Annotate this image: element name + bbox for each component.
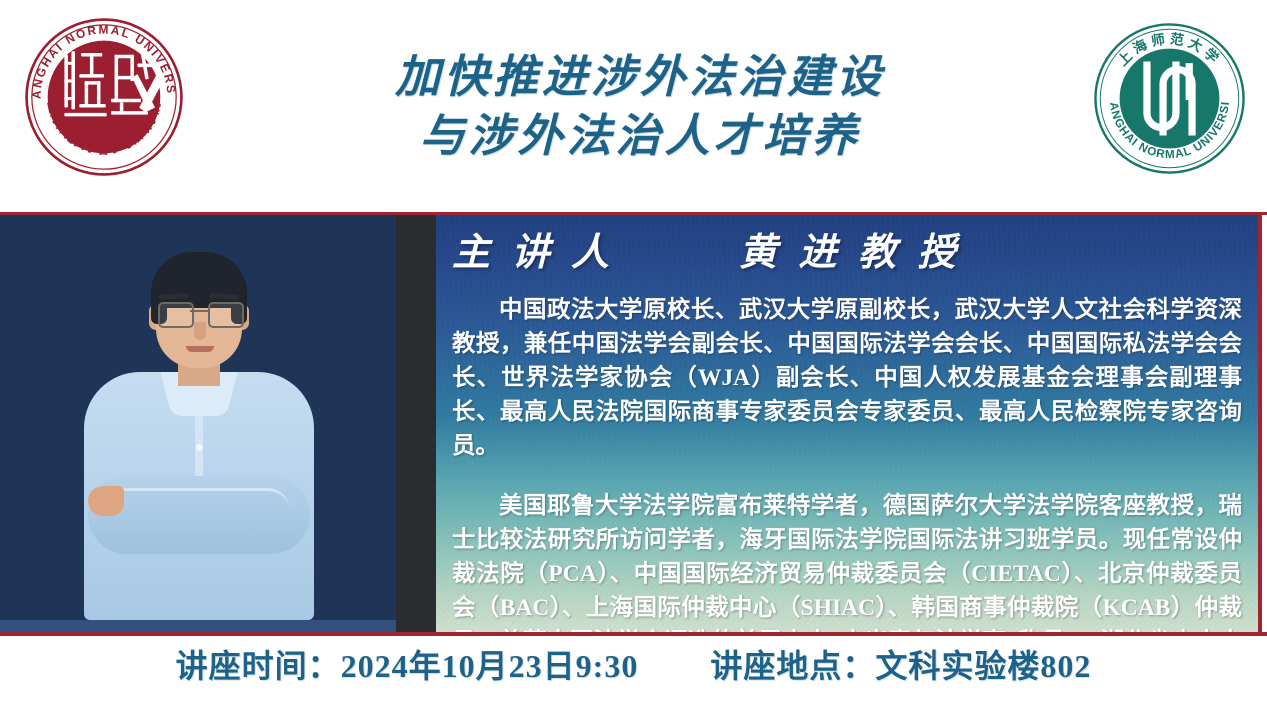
portrait-base-bar	[0, 620, 396, 632]
eyeglass-lens-left	[158, 302, 194, 328]
speaker-heading: 主 讲 人 黄 进 教 授	[452, 227, 1242, 279]
nose-shape	[194, 322, 206, 340]
portrait-dark-divider	[396, 215, 436, 632]
shirt-button	[196, 444, 203, 451]
poster-footer: 讲座时间：2024年10月23日9:30 讲座地点：文科实验楼802	[0, 636, 1267, 713]
poster-title-line-1: 加快推进涉外法治建设	[200, 48, 1080, 107]
lecture-location: 讲座地点：文科实验楼802	[710, 644, 1091, 688]
speaker-bio-paragraph-2: 美国耶鲁大学法学院富布莱特学者，德国萨尔大学法学院客座教授，瑞士比较法研究所访问…	[452, 489, 1242, 632]
right-divider-rule	[1258, 212, 1262, 636]
lecture-poster: SHANGHAI NORMAL UNIVERSITY 上海师范大学哲学与法政学院	[0, 0, 1267, 713]
lecture-time: 讲座时间：2024年10月23日9:30	[176, 644, 639, 688]
arm-fold-highlight	[104, 488, 290, 533]
speaker-portrait-photo	[0, 215, 396, 632]
speaker-figure	[74, 248, 324, 620]
eyeglass-bridge	[190, 310, 208, 312]
left-university-seal-icon: SHANGHAI NORMAL UNIVERSITY 上海师范大学哲学与法政学院	[16, 9, 192, 185]
poster-title: 加快推进涉外法治建设 与涉外法治人才培养	[200, 48, 1080, 166]
speaker-bio-paragraph-1: 中国政法大学原校长、武汉大学原副校长，武汉大学人文社会科学资深教授，兼任中国法学…	[452, 293, 1242, 463]
poster-header: SHANGHAI NORMAL UNIVERSITY 上海师范大学哲学与法政学院	[0, 0, 1267, 196]
mouth-shape	[186, 346, 214, 352]
poster-title-line-2: 与涉外法治人才培养	[200, 107, 1080, 166]
poster-body: 主 讲 人 黄 进 教 授 中国政法大学原校长、武汉大学原副校长，武汉大学人文社…	[0, 196, 1267, 636]
hand-shape	[88, 486, 124, 516]
speaker-info-panel: 主 讲 人 黄 进 教 授 中国政法大学原校长、武汉大学原副校长，武汉大学人文社…	[436, 215, 1258, 632]
eyeglass-lens-right	[208, 302, 244, 328]
right-university-seal-icon: 上海师范大学 SHANGHAI NORMAL UNIVERSITY	[1089, 18, 1250, 179]
